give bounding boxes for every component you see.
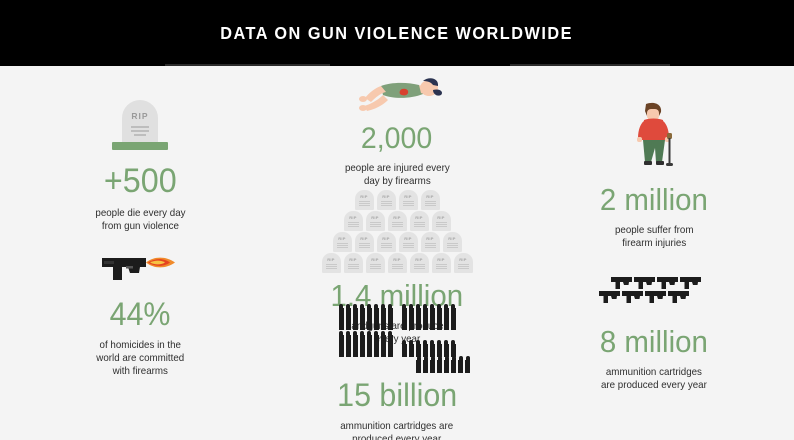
stat-cartridges-15-caption: ammunition cartridges are produced every… bbox=[341, 420, 454, 440]
injured-person-lying-icon bbox=[345, 74, 449, 118]
stat-homicides-value: 44% bbox=[110, 298, 171, 330]
caption-line: people die every day bbox=[95, 207, 185, 220]
caption-line: firearm injuries bbox=[615, 237, 694, 250]
infographic-root: DATA ON GUN VIOLENCE WORLDWIDE RIP bbox=[0, 0, 794, 440]
caption-line: ammunition cartridges are bbox=[341, 420, 454, 433]
firing-pistol-icon bbox=[96, 252, 184, 286]
column-left: RIP +500 people die every day from gun v… bbox=[0, 66, 280, 440]
stat-deaths-caption: people die every day from gun violence bbox=[95, 207, 185, 233]
stat-cartridges-15-value: 15 billion bbox=[337, 379, 457, 411]
bullet-cartridges-icon bbox=[323, 308, 471, 373]
page-title: DATA ON GUN VIOLENCE WORLDWIDE bbox=[221, 23, 574, 44]
caption-line: world are committed bbox=[96, 352, 184, 365]
person-with-cane-icon bbox=[624, 100, 684, 172]
stats-columns: RIP +500 people die every day from gun v… bbox=[0, 66, 794, 440]
tombstone-pyramid-icon bbox=[320, 190, 474, 274]
stat-cartridges-15-billion: 15 billion ammunition cartridges are pro… bbox=[280, 308, 514, 440]
header-bar: DATA ON GUN VIOLENCE WORLDWIDE bbox=[0, 0, 794, 66]
stat-injured-caption: people are injured every day by firearms bbox=[345, 162, 450, 188]
stat-deaths: RIP +500 people die every day from gun v… bbox=[0, 98, 280, 233]
caption-line: from gun violence bbox=[95, 220, 185, 233]
tombstone-rip-icon: RIP bbox=[110, 98, 170, 156]
caption-line: produced every year bbox=[341, 433, 454, 440]
caption-line: day by firearms bbox=[345, 175, 450, 188]
stat-cartridges-8-million: 8 million ammunition cartridges are prod… bbox=[514, 266, 794, 392]
stat-injured-value: 2,000 bbox=[361, 124, 432, 154]
column-middle: 2,000 people are injured every day by fi… bbox=[280, 66, 514, 440]
stat-cartridges-8-value: 8 million bbox=[600, 326, 708, 357]
stat-suffer-caption: people suffer from firearm injuries bbox=[615, 224, 694, 250]
caption-line: of homicides in the bbox=[96, 339, 184, 352]
caption-line: with firearms bbox=[96, 365, 184, 378]
stat-homicides: 44% of homicides in the world are commit… bbox=[0, 252, 280, 378]
stat-deaths-value: +500 bbox=[104, 164, 177, 198]
caption-line: ammunition cartridges bbox=[601, 366, 707, 379]
caption-line: people suffer from bbox=[615, 224, 694, 237]
column-right: 2 million people suffer from firearm inj… bbox=[514, 66, 794, 440]
stat-cartridges-8-caption: ammunition cartridges are produced every… bbox=[601, 366, 707, 392]
stat-suffer-value: 2 million bbox=[600, 184, 708, 215]
stat-suffer: 2 million people suffer from firearm inj… bbox=[514, 100, 794, 250]
pistol-rows-icon bbox=[595, 266, 713, 312]
stat-injured: 2,000 people are injured every day by fi… bbox=[280, 74, 514, 188]
caption-line: are produced every year bbox=[601, 379, 707, 392]
caption-line: people are injured every bbox=[345, 162, 450, 175]
stat-homicides-caption: of homicides in the world are committed … bbox=[96, 339, 184, 378]
